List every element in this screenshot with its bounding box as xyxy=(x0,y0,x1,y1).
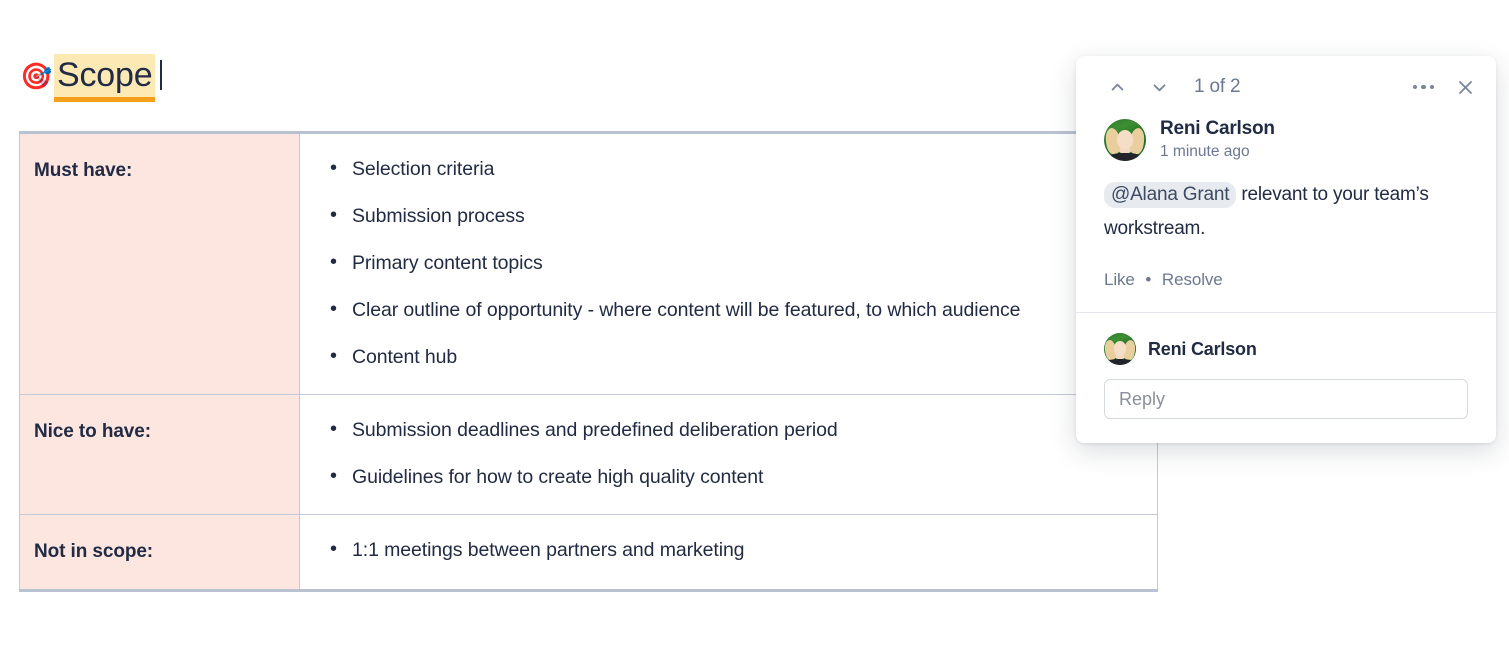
table-row: Not in scope: 1:1 meetings between partn… xyxy=(20,515,1158,591)
comment-popup: 1 of 2 Reni Carlson 1 minute ago xyxy=(1076,56,1496,443)
like-action[interactable]: Like xyxy=(1104,270,1135,289)
row-label-not-in-scope: Not in scope: xyxy=(20,515,300,591)
dot xyxy=(1413,85,1418,90)
resolve-action[interactable]: Resolve xyxy=(1162,270,1223,289)
more-options-icon[interactable] xyxy=(1407,79,1441,96)
reply-input[interactable] xyxy=(1104,379,1468,419)
avatar-body xyxy=(1110,153,1140,161)
avatar xyxy=(1104,333,1136,365)
list-item: Submission deadlines and predefined deli… xyxy=(352,417,1147,443)
bullet-list: Submission deadlines and predefined deli… xyxy=(310,417,1147,490)
dot xyxy=(1430,85,1435,90)
reply-author-name: Reni Carlson xyxy=(1148,338,1257,360)
row-label-nice-to-have: Nice to have: xyxy=(20,395,300,515)
list-item: Submission process xyxy=(352,203,1147,229)
text-cursor xyxy=(160,60,162,90)
row-content-nice-to-have: Submission deadlines and predefined deli… xyxy=(300,395,1158,515)
list-item: 1:1 meetings between partners and market… xyxy=(352,537,1147,563)
scope-table: Must have: Selection criteria Submission… xyxy=(19,131,1158,592)
row-content-must-have: Selection criteria Submission process Pr… xyxy=(300,133,1158,395)
list-item: Selection criteria xyxy=(352,156,1147,182)
action-separator: • xyxy=(1145,270,1151,289)
list-item: Primary content topics xyxy=(352,250,1147,276)
comment-actions: Like • Resolve xyxy=(1104,270,1468,312)
heading-text[interactable]: Scope xyxy=(54,54,155,102)
reply-section: Reni Carlson xyxy=(1076,313,1496,443)
comment-text: @Alana Grant relevant to your team’s wor… xyxy=(1104,178,1468,246)
mention-chip[interactable]: @Alana Grant xyxy=(1104,182,1236,208)
page-title: 🎯 Scope xyxy=(20,54,162,102)
bullet-list: Selection criteria Submission process Pr… xyxy=(310,156,1147,370)
author-meta: Reni Carlson 1 minute ago xyxy=(1160,118,1275,162)
comment-counter: 1 of 2 xyxy=(1194,76,1240,98)
bullet-list: 1:1 meetings between partners and market… xyxy=(310,537,1147,563)
document-page: 🎯 Scope Must have: Selection criteria Su… xyxy=(0,0,1509,649)
comment-popup-header: 1 of 2 xyxy=(1076,56,1496,118)
list-item: Clear outline of opportunity - where con… xyxy=(352,297,1147,323)
avatar-body xyxy=(1108,359,1131,365)
target-icon: 🎯 xyxy=(20,54,50,98)
reply-author-row: Reni Carlson xyxy=(1104,333,1468,365)
comment-author-name: Reni Carlson xyxy=(1160,118,1275,140)
table-row: Must have: Selection criteria Submission… xyxy=(20,133,1158,395)
row-content-not-in-scope: 1:1 meetings between partners and market… xyxy=(300,515,1158,591)
table-body: Must have: Selection criteria Submission… xyxy=(20,133,1158,591)
table-row: Nice to have: Submission deadlines and p… xyxy=(20,395,1158,515)
chevron-down-icon[interactable] xyxy=(1146,74,1172,100)
comment-timestamp: 1 minute ago xyxy=(1160,142,1275,162)
chevron-up-icon[interactable] xyxy=(1104,74,1130,100)
list-item: Guidelines for how to create high qualit… xyxy=(352,464,1147,490)
comment-author-row: Reni Carlson 1 minute ago xyxy=(1104,118,1468,162)
close-icon[interactable] xyxy=(1452,74,1478,100)
avatar xyxy=(1104,119,1146,161)
avatar-face xyxy=(1117,130,1134,149)
avatar-face xyxy=(1114,341,1127,356)
row-label-must-have: Must have: xyxy=(20,133,300,395)
list-item: Content hub xyxy=(352,344,1147,370)
comment-body: Reni Carlson 1 minute ago @Alana Grant r… xyxy=(1076,118,1496,312)
dot xyxy=(1421,85,1426,90)
